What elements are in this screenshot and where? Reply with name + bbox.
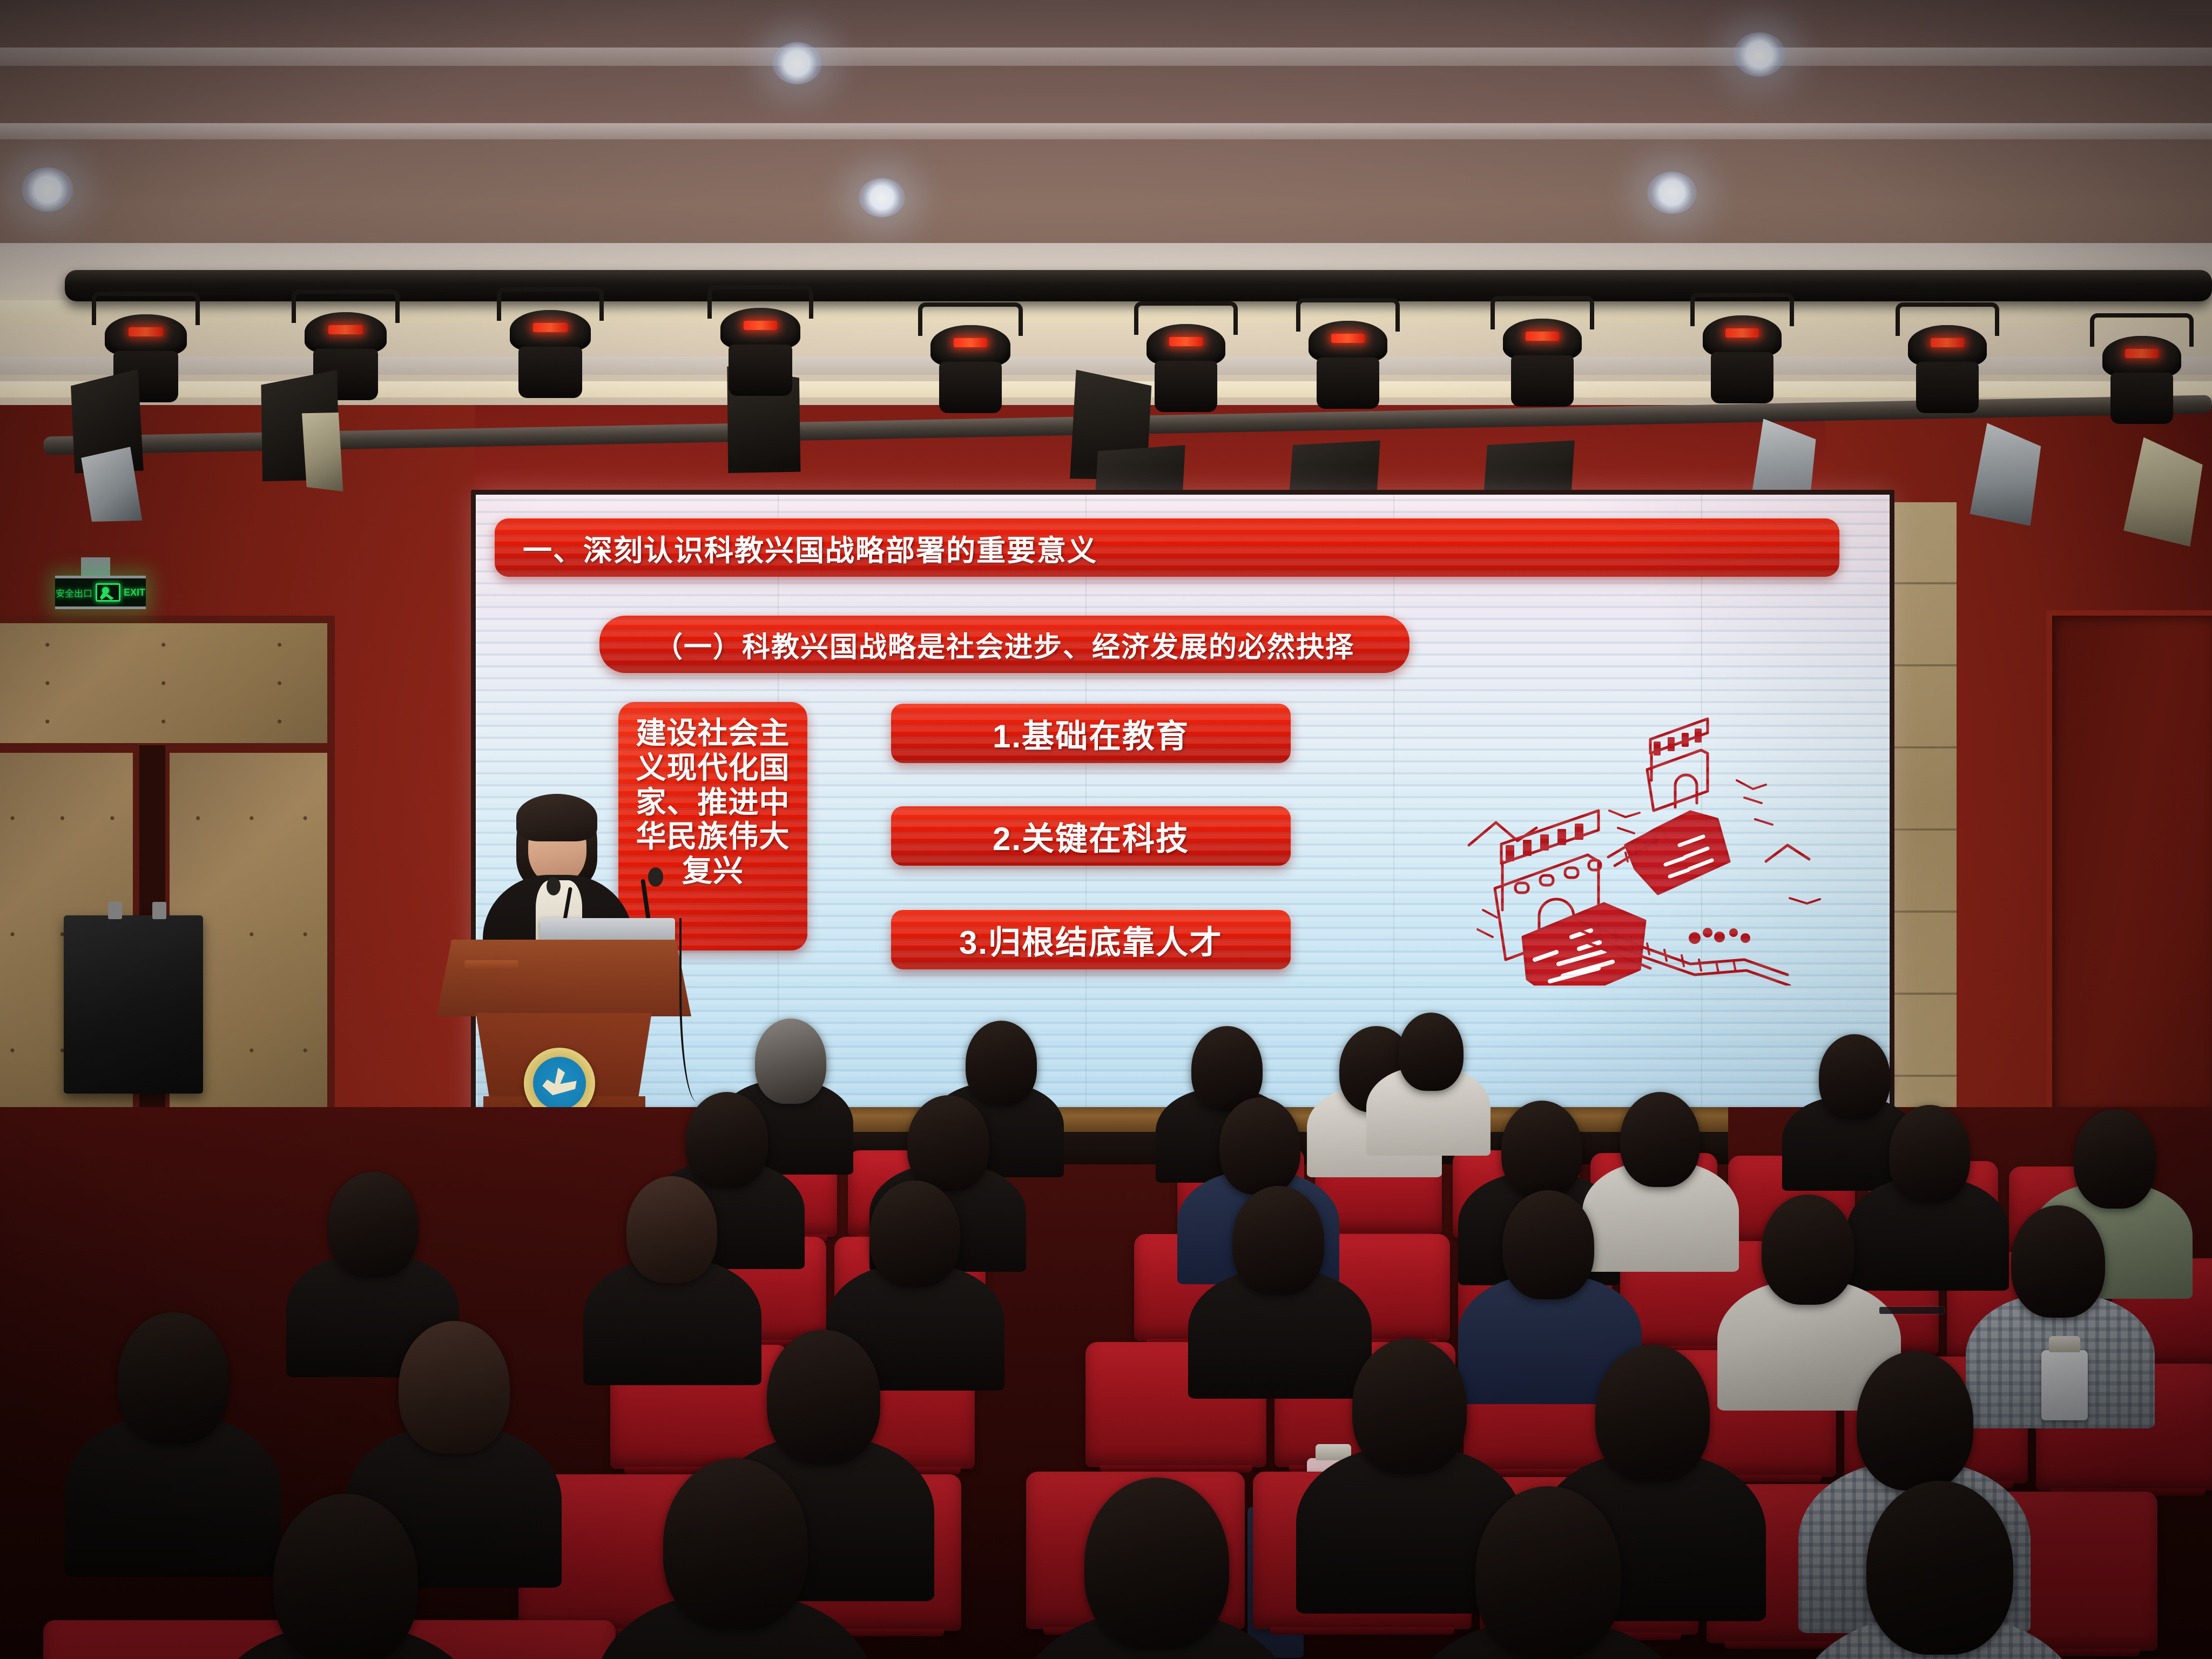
light-led-indicator — [533, 323, 567, 332]
audience-head — [399, 1321, 510, 1454]
stage-light-fixture — [1896, 302, 1999, 416]
light-barrel — [1317, 358, 1379, 409]
exit-sign-label-cn: 安全出口 — [56, 586, 92, 599]
exit-sign-label-en: EXIT — [124, 587, 145, 598]
light-led-indicator — [328, 325, 363, 334]
audience-head — [118, 1312, 229, 1444]
audience-head — [1762, 1195, 1854, 1305]
light-led-indicator — [2125, 349, 2158, 358]
water-bottle-white — [2041, 1350, 2088, 1420]
ceiling-beam-1 — [0, 48, 2212, 66]
audience-head — [869, 1181, 960, 1287]
slide-section-title: 一、深刻认识科教兴国战略部署的重要意义 — [523, 527, 1097, 569]
light-barrel — [518, 347, 583, 398]
audience-head — [1595, 1345, 1710, 1482]
loudspeaker-cabinet — [64, 915, 203, 1094]
slide-point-1: 1.基础在教育 — [891, 704, 1291, 763]
stage-light-fixture — [1134, 301, 1238, 415]
audience-head — [1219, 1097, 1300, 1195]
light-barrel — [939, 362, 1002, 413]
loudspeaker-mount-left — [108, 902, 122, 919]
light-led-indicator — [1526, 332, 1559, 341]
acoustic-panel-upper-left — [0, 616, 335, 751]
audience-head — [1502, 1190, 1594, 1299]
audience-head — [966, 1021, 1037, 1106]
slide-vertical-callout-text: 建设社会主义现代化国家、推进中华民族伟大复兴 — [626, 716, 800, 888]
great-wall-illustration — [1464, 683, 1842, 986]
ceiling-downlight — [1734, 32, 1785, 77]
audience-head — [755, 1019, 826, 1104]
light-led-indicator — [1169, 337, 1202, 346]
audience-head — [1501, 1101, 1582, 1198]
light-led-indicator — [1931, 338, 1964, 347]
audience-head — [1352, 1338, 1467, 1474]
slide-subsection-title: （一）科教兴国战略是社会进步、经济发展的必然抉择 — [655, 624, 1354, 665]
light-barrel — [1511, 355, 1573, 407]
ceiling-downlight — [22, 167, 73, 212]
stage-light-fixture — [918, 302, 1023, 416]
microphone-head-left — [547, 877, 561, 895]
ceiling-beam-2 — [0, 123, 2212, 139]
audience-head — [1475, 1486, 1621, 1659]
light-barrel — [729, 345, 792, 396]
slide-point-2-label: 2.关键在科技 — [993, 813, 1189, 860]
loudspeaker-mount-right — [152, 902, 166, 919]
podium-desktop — [436, 940, 691, 1016]
light-barrel — [1155, 361, 1217, 412]
slide-point-3-label: 3.归根结底靠人才 — [959, 916, 1223, 963]
audience-head — [1819, 1034, 1890, 1120]
stage-light-fixture — [1296, 298, 1400, 412]
wall-tan-strip — [1893, 502, 1957, 1107]
ceiling-downlight — [772, 42, 822, 84]
light-barrel — [1916, 362, 1978, 413]
running-person-icon — [96, 583, 120, 602]
presenter-hair-front — [516, 794, 597, 841]
audience-head — [2074, 1109, 2156, 1209]
light-led-indicator — [1725, 328, 1758, 338]
audience-head — [1620, 1092, 1700, 1187]
light-barrel — [1711, 352, 1773, 403]
light-led-indicator — [954, 338, 987, 347]
stage-light-fixture — [707, 285, 813, 399]
audience-head — [1399, 1013, 1464, 1091]
stage-light-fixture — [497, 287, 604, 401]
podium-edge-trim — [464, 960, 518, 969]
stage-light-fixture — [2090, 313, 2194, 427]
ceiling-upper — [0, 0, 2212, 135]
audience-head — [626, 1176, 717, 1283]
audience-head — [686, 1092, 768, 1188]
audience-head — [1084, 1478, 1229, 1649]
stage-light-fixture — [1690, 293, 1794, 406]
slide-point-3: 3.归根结底靠人才 — [891, 910, 1291, 969]
audience-head — [1889, 1105, 1970, 1203]
exit-sign: 安全出口 EXIT — [55, 576, 146, 609]
slide-point-1-label: 1.基础在教育 — [993, 710, 1189, 757]
exit-sign-bracket — [81, 557, 110, 577]
ceiling-downlight — [1647, 172, 1697, 214]
light-led-indicator — [129, 327, 163, 336]
ceiling-lower — [0, 139, 2212, 247]
audience-head — [2011, 1205, 2105, 1318]
auditorium-scene: 安全出口 EXIT — [0, 0, 2212, 1659]
slide-point-2: 2.关键在科技 — [891, 806, 1291, 866]
audience-head — [767, 1330, 880, 1465]
slide-section-title-bar: 一、深刻认识科教兴国战略部署的重要意义 — [495, 518, 1839, 577]
audience-head — [663, 1458, 808, 1630]
audience-head — [1232, 1186, 1324, 1295]
light-barrel — [2110, 373, 2173, 424]
light-led-indicator — [744, 321, 778, 330]
slide-subsection-bar: （一）科教兴国战略是社会进步、经济发展的必然抉择 — [599, 616, 1410, 673]
audience-head — [1857, 1351, 1973, 1491]
audience-head — [1866, 1481, 2013, 1655]
stage-door — [2047, 610, 2212, 1107]
audience-head — [273, 1494, 418, 1659]
audience-head — [328, 1172, 418, 1278]
eyeglasses — [1879, 1307, 1944, 1314]
stage-light-fixture — [1491, 296, 1594, 409]
light-led-indicator — [1331, 334, 1364, 343]
ceiling-downlight — [859, 178, 905, 217]
audience-head — [907, 1095, 989, 1191]
microphone-head-right — [648, 867, 663, 887]
bottle-cap — [2049, 1336, 2080, 1352]
